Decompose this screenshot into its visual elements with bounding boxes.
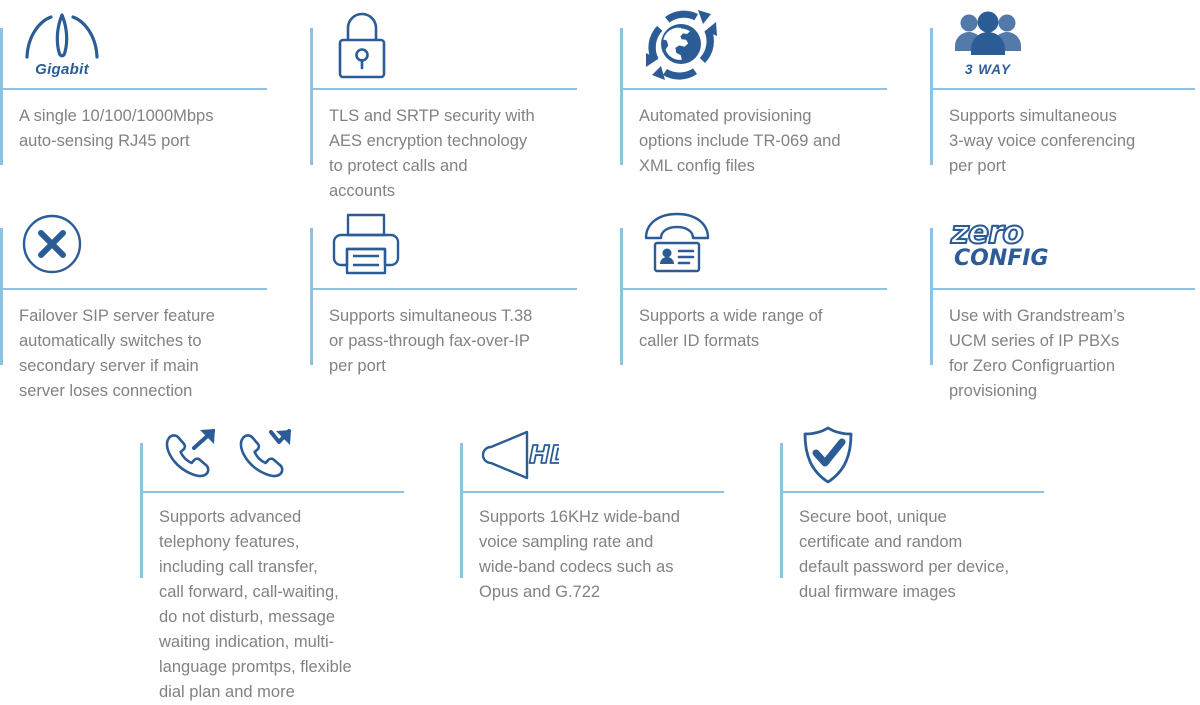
card-horizontal-rule	[780, 491, 1044, 493]
three-people-conference-icon: 3 WAY	[951, 11, 1025, 77]
card-horizontal-rule	[0, 88, 267, 90]
zero-config-bottom-text: CONFIG	[954, 249, 1049, 269]
card-icon-slot: zero CONFIG	[949, 200, 1200, 288]
card-icon-slot	[19, 200, 310, 288]
feature-card-hd-audio: HD Supports 16KHz wide-band voice sampli…	[460, 418, 780, 687]
shield-check-icon	[801, 425, 855, 485]
zero-config-wordmark-icon: zero CONFIG	[951, 219, 1049, 270]
card-horizontal-rule	[0, 288, 267, 290]
zero-config-top-text: zero	[951, 219, 1023, 248]
feature-card-telephony-features: Supports advanced telephony features, in…	[140, 418, 460, 687]
padlock-icon	[331, 8, 393, 80]
feature-card-secure-boot: Secure boot, unique certificate and rand…	[780, 418, 1100, 687]
card-vertical-rule	[0, 28, 3, 165]
circle-x-failover-icon	[21, 213, 83, 275]
feature-card-security: TLS and SRTP security with AES encryptio…	[310, 0, 620, 200]
icon-caption: Gigabit	[35, 61, 89, 78]
feature-card-zero-config: zero CONFIG Use with Grandstream’s UCM s…	[930, 200, 1200, 418]
card-icon-slot	[159, 418, 460, 491]
handset-caller-id-card-icon	[641, 212, 713, 276]
card-horizontal-rule	[310, 88, 577, 90]
feature-card-provisioning: Automated provisioning options include T…	[620, 0, 930, 200]
feature-card-caller-id: Supports a wide range of caller ID forma…	[620, 200, 930, 418]
feature-row-2: Failover SIP server feature automaticall…	[0, 200, 1200, 418]
card-horizontal-rule	[620, 288, 887, 290]
feature-card-failover: Failover SIP server feature automaticall…	[0, 200, 310, 418]
card-icon-slot	[329, 200, 620, 288]
icon-caption: 3 WAY	[965, 62, 1011, 77]
card-vertical-rule	[310, 228, 313, 365]
card-vertical-rule	[620, 28, 623, 165]
card-description: Secure boot, unique certificate and rand…	[799, 491, 1100, 605]
card-icon-slot	[329, 0, 620, 88]
feature-row-3: Supports advanced telephony features, in…	[0, 418, 1200, 687]
feature-row-1: Gigabit A single 10/100/1000Mbps auto-se…	[0, 0, 1200, 200]
card-horizontal-rule	[930, 88, 1195, 90]
card-description: Supports 16KHz wide-band voice sampling …	[479, 491, 780, 605]
card-vertical-rule	[0, 228, 3, 365]
card-vertical-rule	[140, 443, 143, 578]
feature-card-conferencing: 3 WAY Supports simultaneous 3-way voice …	[930, 0, 1200, 200]
card-description: TLS and SRTP security with AES encryptio…	[329, 88, 620, 204]
card-description: Use with Grandstream’s UCM series of IP …	[949, 288, 1200, 404]
fax-printer-icon	[331, 211, 401, 277]
card-horizontal-rule	[620, 88, 887, 90]
card-icon-slot	[639, 200, 930, 288]
card-description: A single 10/100/1000Mbps auto-sensing RJ…	[19, 88, 310, 154]
card-horizontal-rule	[930, 288, 1195, 290]
card-vertical-rule	[310, 28, 313, 165]
card-horizontal-rule	[140, 491, 404, 493]
card-vertical-rule	[620, 228, 623, 365]
feature-card-fax: Supports simultaneous T.38 or pass-throu…	[310, 200, 620, 418]
card-icon-slot: HD	[479, 418, 780, 491]
card-horizontal-rule	[310, 288, 577, 290]
card-description: Supports simultaneous T.38 or pass-throu…	[329, 288, 620, 379]
card-description: Supports advanced telephony features, in…	[159, 491, 460, 705]
card-description: Failover SIP server feature automaticall…	[19, 288, 310, 404]
card-icon-slot	[799, 418, 1100, 491]
svg-text:HD: HD	[529, 440, 559, 469]
card-icon-slot: Gigabit	[19, 0, 310, 88]
card-vertical-rule	[930, 28, 933, 165]
card-icon-slot: 3 WAY	[949, 0, 1200, 88]
card-vertical-rule	[460, 443, 463, 578]
globe-sync-arrows-icon	[641, 5, 721, 83]
card-description: Supports a wide range of caller ID forma…	[639, 288, 930, 354]
hd-audio-speaker-icon: HD	[481, 429, 559, 481]
feature-card-gigabit: Gigabit A single 10/100/1000Mbps auto-se…	[0, 0, 310, 200]
card-icon-slot	[639, 0, 930, 88]
feature-grid: Gigabit A single 10/100/1000Mbps auto-se…	[0, 0, 1200, 687]
call-transfer-handsets-icon	[161, 428, 293, 482]
card-vertical-rule	[930, 228, 933, 365]
card-horizontal-rule	[460, 491, 724, 493]
gigabit-speed-icon: Gigabit	[21, 11, 103, 78]
card-description: Automated provisioning options include T…	[639, 88, 930, 179]
card-vertical-rule	[780, 443, 783, 578]
card-description: Supports simultaneous 3-way voice confer…	[949, 88, 1200, 179]
